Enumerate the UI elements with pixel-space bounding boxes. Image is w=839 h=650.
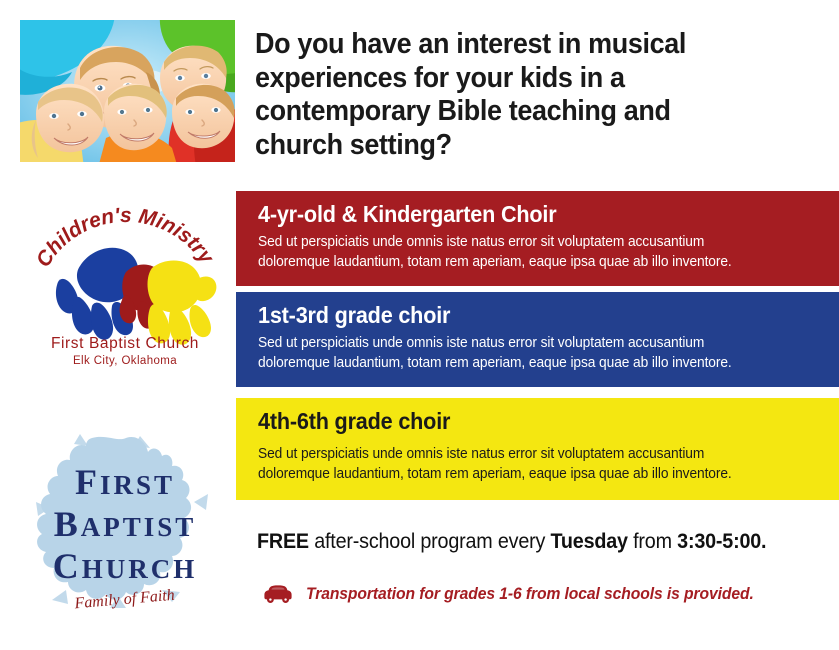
handprint-yellow: [148, 261, 217, 345]
free-label: FREE: [257, 530, 309, 553]
banner-body-line-2: doloremque laudantium, totam rem aperiam…: [258, 252, 810, 273]
headline-line-3: contemporary Bible teaching and: [255, 95, 692, 129]
cm-church-name: First Baptist Church: [51, 335, 199, 352]
headline-line-2: experiences for your kids in a: [255, 62, 692, 96]
banner-body: Sed ut perspiciatis unde omnis iste natu…: [258, 444, 810, 485]
cm-city: Elk City, Oklahoma: [73, 355, 177, 367]
banner-body: Sed ut perspiciatis unde omnis iste natu…: [258, 333, 810, 374]
headline-line-1: Do you have an interest in musical: [255, 28, 692, 62]
banner-body-line-1: Sed ut perspiciatis unde omnis iste natu…: [258, 232, 810, 253]
banner-body-line-1: Sed ut perspiciatis unde omnis iste natu…: [258, 444, 810, 465]
free-mid-text: after-school program every: [309, 530, 551, 553]
children-photo: [20, 20, 235, 162]
banner-title: 4-yr-old & Kindergarten Choir: [258, 202, 804, 228]
banner-4yr-kindergarten: 4-yr-old & Kindergarten Choir Sed ut per…: [236, 191, 839, 286]
banner-body-line-2: doloremque laudantium, totam rem aperiam…: [258, 464, 810, 485]
childrens-ministry-logo: Children's Ministry First Baptist Church…: [22, 196, 228, 374]
banner-title: 4th-6th grade choir: [258, 409, 804, 435]
from-word: from: [628, 530, 677, 553]
banner-body: Sed ut perspiciatis unde omnis iste natu…: [258, 232, 810, 273]
flyer-canvas: Do you have an interest in musical exper…: [0, 0, 839, 650]
transportation-note-row: Transportation for grades 1-6 from local…: [263, 583, 777, 605]
banner-body-line-1: Sed ut perspiciatis unde omnis iste natu…: [258, 333, 810, 354]
banner-title: 1st-3rd grade choir: [258, 303, 804, 329]
banner-4th-6th-grade: 4th-6th grade choir Sed ut perspiciatis …: [236, 398, 839, 500]
headline-line-4: church setting?: [255, 129, 692, 163]
headline: Do you have an interest in musical exper…: [255, 28, 692, 163]
banner-body-line-2: doloremque laudantium, totam rem aperiam…: [258, 353, 810, 374]
transportation-note: Transportation for grades 1-6 from local…: [306, 585, 754, 604]
car-icon: [263, 583, 293, 605]
program-time: 3:30-5:00.: [677, 530, 766, 553]
banner-1st-3rd-grade: 1st-3rd grade choir Sed ut perspiciatis …: [236, 292, 839, 387]
program-day: Tuesday: [551, 530, 628, 553]
free-program-line: FREE after-school program every Tuesday …: [257, 530, 766, 554]
first-baptist-church-logo: FIRST BAPTIST CHURCH Family of Faith: [22, 432, 228, 618]
